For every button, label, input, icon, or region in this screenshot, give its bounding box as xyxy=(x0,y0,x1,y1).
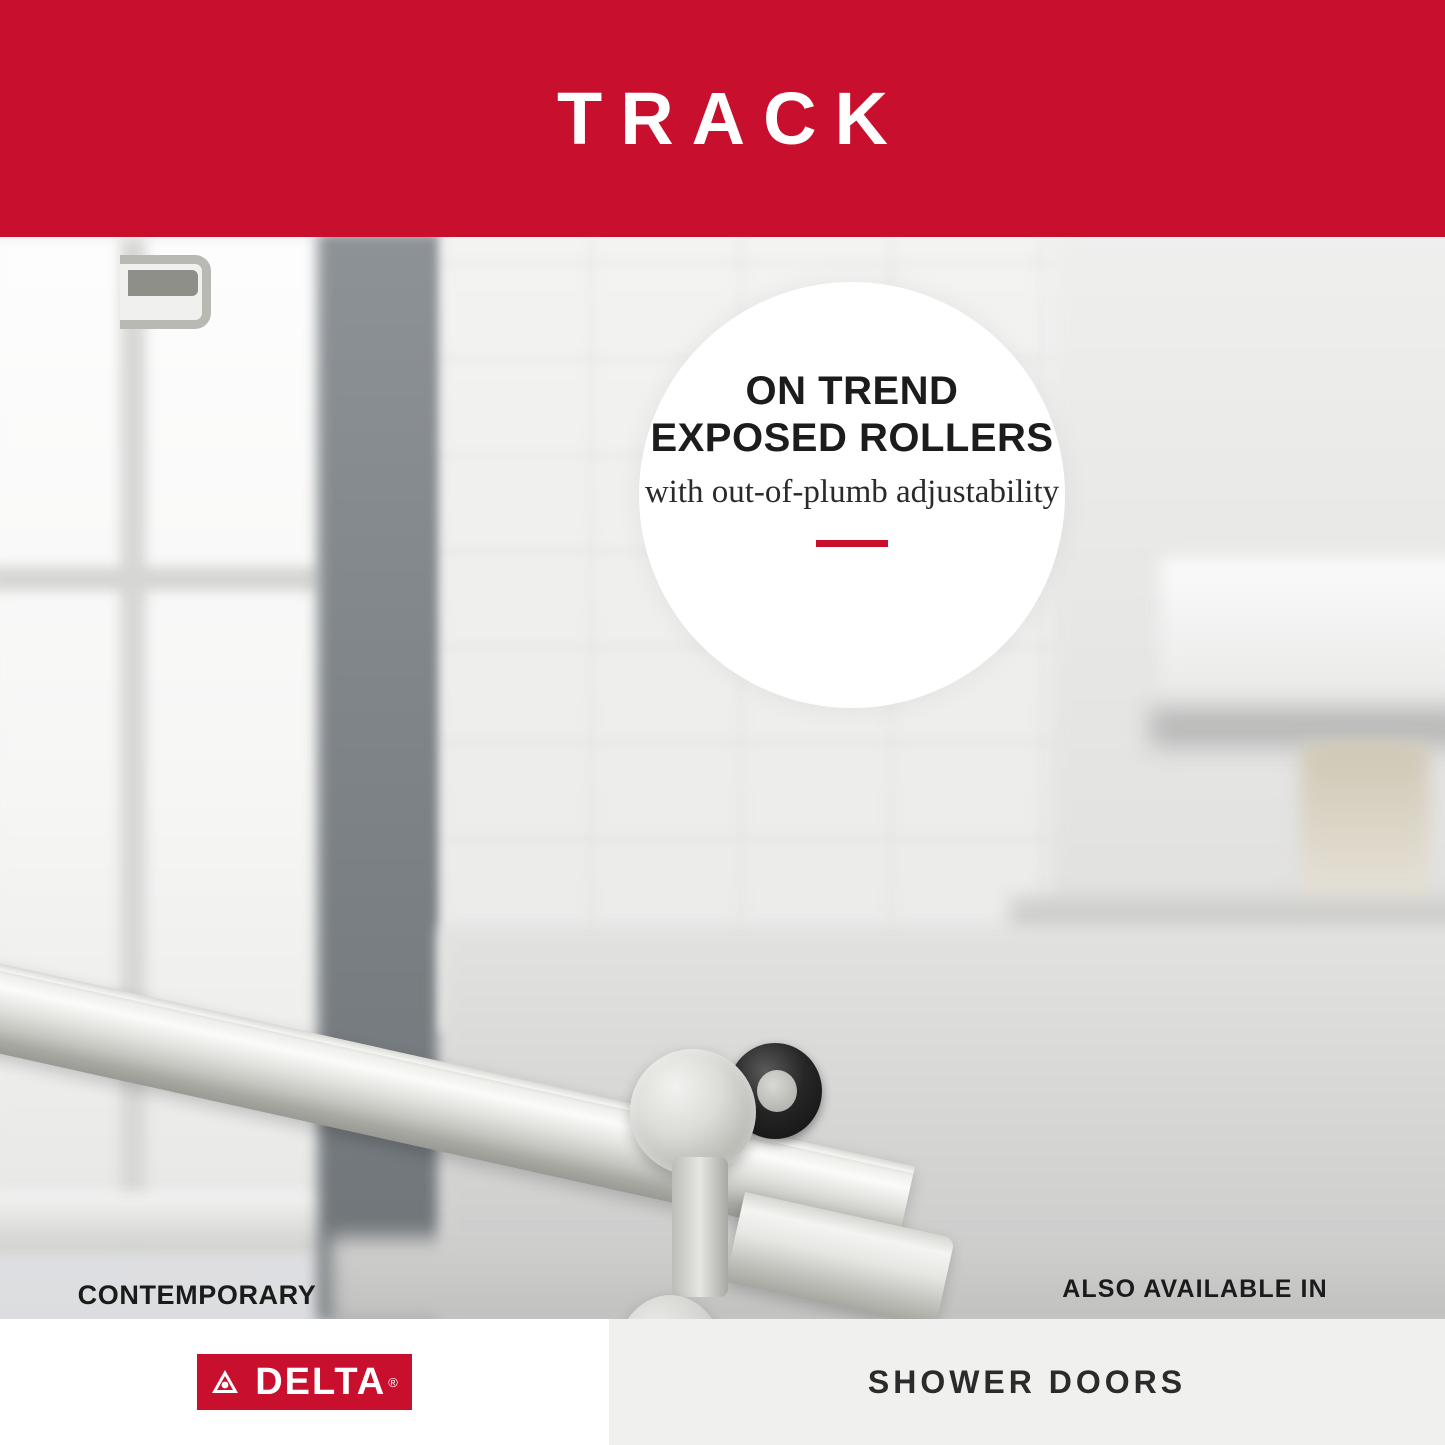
delta-triangle-icon xyxy=(197,1354,253,1410)
footer-category-area: SHOWER DOORS xyxy=(609,1319,1445,1445)
footer-bar: DELTA® SHOWER DOORS xyxy=(0,1319,1445,1445)
product-caption: CONTEMPORARY TRACK IN BRUSHED NICKEL xyxy=(62,1277,332,1319)
dark-wall-panel xyxy=(318,237,443,1319)
window-sash xyxy=(0,567,320,591)
roller-bracket-stem xyxy=(672,1157,728,1297)
wall-niche xyxy=(1160,557,1445,727)
niche-shadow xyxy=(1150,707,1445,747)
delta-wordmark-text: DELTA xyxy=(255,1361,386,1404)
badge-subtitle: with out-of-plumb adjustability xyxy=(645,472,1059,513)
badge-divider-rule xyxy=(816,540,888,547)
finish-options: ALSO AVAILABLE IN CHROME BRONZE MATTE BL… xyxy=(960,1275,1430,1319)
page-title: TRACK xyxy=(539,76,906,161)
shelf-bottles xyxy=(1300,742,1430,912)
product-feature-graphic: TRACK ON TREND EXPOS xyxy=(0,0,1445,1445)
product-photo: ON TREND EXPOSED ROLLERS with out-of-plu… xyxy=(0,237,1445,1319)
footer-brand-area: DELTA® xyxy=(0,1319,609,1445)
delta-wordmark: DELTA® xyxy=(253,1354,412,1410)
track-channel-groove xyxy=(128,270,198,296)
window-frame-mullion xyxy=(120,237,146,1247)
badge-headline-line1: ON TREND xyxy=(746,368,959,415)
delta-logo[interactable]: DELTA® xyxy=(197,1354,412,1410)
roller-wheel-hub xyxy=(757,1070,797,1112)
delta-registered-mark: ® xyxy=(388,1375,400,1390)
footer-category-label: SHOWER DOORS xyxy=(868,1364,1186,1401)
header-band: TRACK xyxy=(0,0,1445,237)
window-sill xyxy=(0,1192,340,1252)
finish-options-title: ALSO AVAILABLE IN xyxy=(960,1275,1430,1304)
badge-headline-line2: EXPOSED ROLLERS xyxy=(650,415,1053,462)
feature-badge: ON TREND EXPOSED ROLLERS with out-of-plu… xyxy=(639,282,1065,708)
